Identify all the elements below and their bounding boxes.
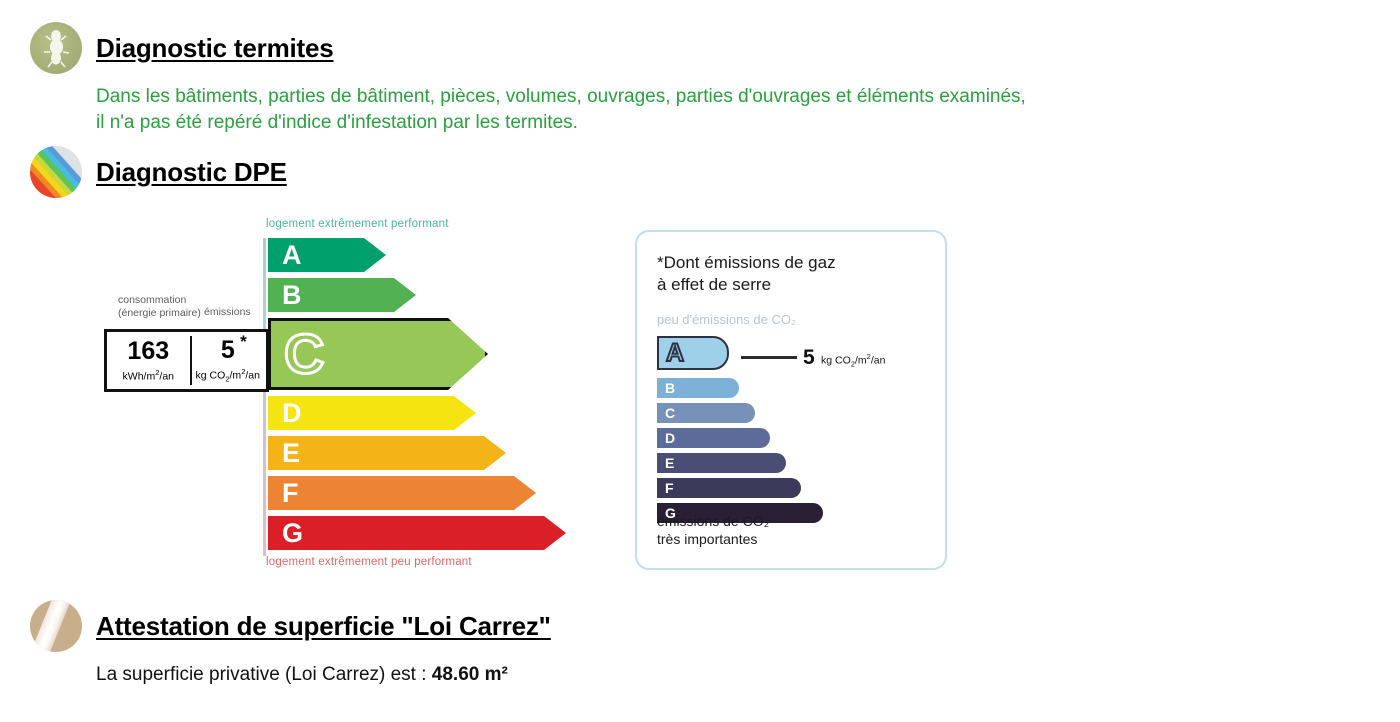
section-diagnostic-termites: Diagnostic termites Dans les bâtiments, …: [30, 22, 1026, 135]
energy-axis-line: [263, 238, 266, 556]
co2-panel-subtitle: peu d'émissions de CO₂: [657, 312, 796, 327]
page-title-termites: Diagnostic termites: [96, 34, 334, 63]
co2-emissions-panel: *Dont émissions de gaz à effet de serre …: [635, 230, 947, 570]
termites-header: Diagnostic termites: [30, 22, 1026, 74]
energy-class-bar-a: A: [268, 238, 386, 272]
co2-class-bar-a: A: [657, 336, 729, 370]
section-diagnostic-dpe: Diagnostic DPE: [30, 146, 287, 198]
co2-class-bar-e: E: [657, 453, 786, 473]
energy-class-bar-d: D: [268, 396, 476, 430]
energy-class-letter-b: B: [268, 282, 302, 309]
energy-class-letter-c: C: [271, 326, 324, 382]
emission-unit: kg CO2/m2/an: [196, 367, 260, 384]
co2-class-letter-a: A: [659, 341, 684, 366]
label-consommation-line1: consommation: [118, 294, 186, 306]
label-consommation: consommation (énergie primaire): [118, 294, 201, 320]
energy-class-bar-c: C: [268, 318, 488, 390]
page-title-carrez: Attestation de superficie "Loi Carrez": [96, 612, 551, 641]
energy-class-letter-e: E: [268, 440, 300, 467]
co2-leader-line: [741, 356, 797, 359]
carrez-header: Attestation de superficie "Loi Carrez": [30, 600, 551, 652]
termites-body-line1: Dans les bâtiments, parties de bâtiment,…: [96, 84, 1026, 110]
energy-class-letter-g: G: [268, 520, 303, 547]
energy-class-bar-g: G: [268, 516, 566, 550]
dpe-header: Diagnostic DPE: [30, 146, 287, 198]
label-emissions: émissions: [204, 306, 251, 319]
consumption-unit: kWh/m2/an: [123, 368, 174, 383]
emission-star: *: [240, 333, 247, 350]
energy-class-bar-e: E: [268, 436, 506, 470]
co2-class-letter-c: C: [657, 406, 675, 420]
termite-icon: [30, 22, 82, 74]
ruler-icon: [30, 600, 82, 652]
co2-panel-footer: émissions de CO₂ très importantes: [657, 512, 769, 548]
co2-class-letter-d: D: [657, 431, 675, 445]
section-attestation-superficie: Attestation de superficie "Loi Carrez" L…: [30, 600, 551, 686]
emission-number: 5: [221, 336, 235, 364]
co2-class-letter-b: B: [657, 381, 675, 395]
ruler-band: [30, 600, 75, 652]
termites-body: Dans les bâtiments, parties de bâtiment,…: [96, 84, 1026, 135]
co2-panel-title: *Dont émissions de gaz à effet de serre: [657, 252, 836, 296]
emission-cell: 5* kg CO2/m2/an: [190, 332, 266, 389]
energy-caption-bottom: logement extrêmement peu performant: [266, 556, 472, 568]
energy-caption-top: logement extrêmement performant: [266, 218, 449, 230]
energy-class-letter-a: A: [268, 242, 302, 269]
dpe-energy-label-graphic: logement extrêmement performant ABCDEFG …: [100, 210, 980, 580]
consumption-cell: 163 kWh/m2/an: [107, 332, 190, 389]
co2-class-bar-b: B: [657, 378, 739, 398]
co2-class-bar-d: D: [657, 428, 770, 448]
co2-class-bar-f: F: [657, 478, 801, 498]
consumption-value: 163: [127, 339, 169, 364]
energy-class-letter-f: F: [268, 480, 299, 507]
carrez-body-prefix: La superficie privative (Loi Carrez) est…: [96, 664, 432, 685]
energy-consumption-scale: logement extrêmement performant ABCDEFG …: [100, 210, 600, 580]
carrez-surface-value: 48.60 m²: [432, 664, 508, 685]
carrez-body: La superficie privative (Loi Carrez) est…: [96, 664, 551, 686]
co2-unit: kg CO2/m2/an: [821, 353, 885, 368]
energy-class-bar-f: F: [268, 476, 536, 510]
emission-value: 5*: [221, 338, 235, 363]
termites-body-line2: il n'a pas été repéré d'indice d'infesta…: [96, 110, 1026, 136]
consumption-values-box: 163 kWh/m2/an 5* kg CO2/m2/an: [104, 329, 269, 392]
co2-class-letter-e: E: [657, 456, 674, 470]
co2-class-bar-c: C: [657, 403, 755, 423]
energy-class-letter-d: D: [268, 400, 302, 427]
co2-class-letter-f: F: [657, 481, 674, 495]
energy-class-bar-b: B: [268, 278, 416, 312]
page-title-dpe: Diagnostic DPE: [96, 158, 287, 187]
co2-value: 5: [803, 347, 815, 368]
rainbow-icon: [30, 146, 82, 198]
label-consommation-line2: (énergie primaire): [118, 307, 201, 319]
